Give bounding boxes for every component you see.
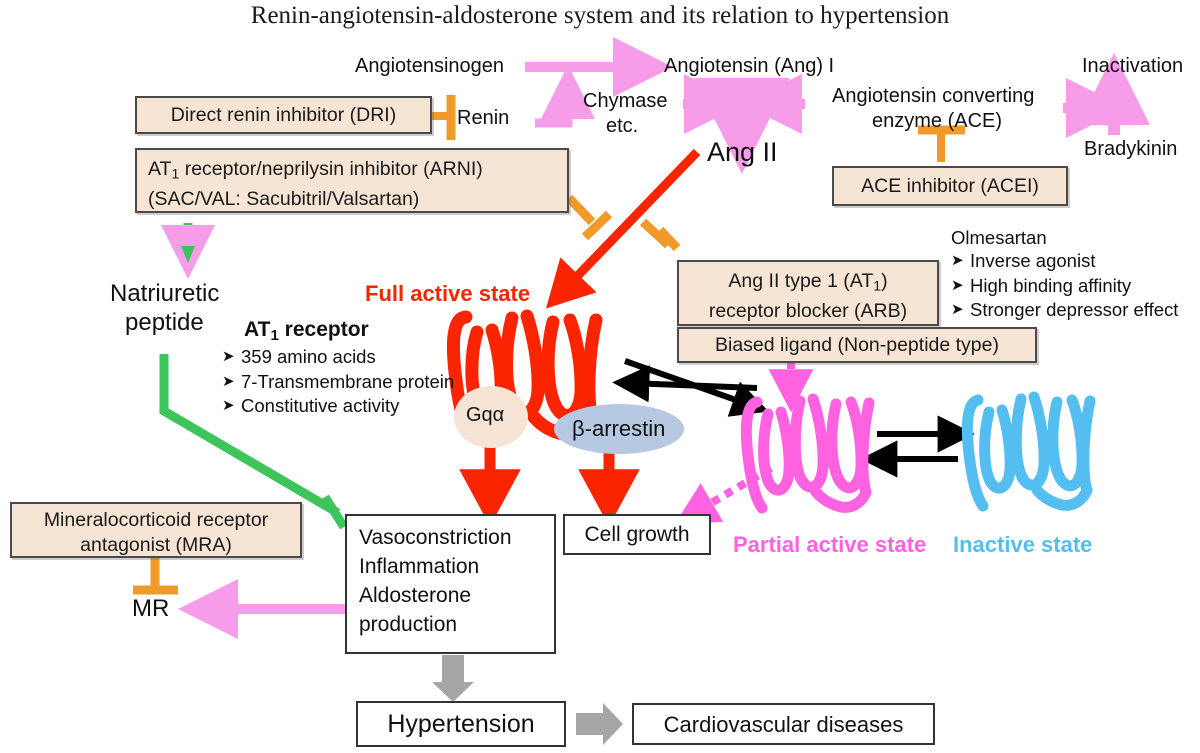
box-mra-line1: Mineralocorticoid receptor <box>12 508 300 533</box>
equilibrium-full-partial <box>625 361 757 406</box>
arrow-hypertension-to-cardiovascular <box>576 703 623 745</box>
equilibrium-partial-inactive <box>877 434 958 459</box>
label-angiotensin-i: Angiotensin (Ang) I <box>664 54 834 79</box>
box-arb-line1: Ang II type 1 (AT1) <box>679 269 937 299</box>
effect-item: production <box>359 610 544 639</box>
caption-partial-active-state: Partial active state <box>733 532 926 557</box>
list-item: 359 amino acids <box>222 345 454 370</box>
box-arb-line2: receptor blocker (ARB) <box>679 299 937 324</box>
list-item: Inverse agonist <box>951 249 1178 274</box>
label-gq-alpha: Gqα <box>466 404 504 427</box>
caption-full-active-state: Full active state <box>365 281 530 306</box>
arrow-renin-elbow <box>535 92 568 123</box>
label-beta-arrestin: β-arrestin <box>572 416 665 442</box>
list-item: Stronger depressor effect <box>951 298 1178 323</box>
effect-item: Inflammation <box>359 552 544 581</box>
box-effects[interactable]: Vasoconstriction Inflammation Aldosteron… <box>345 514 556 654</box>
inhibit-arb-at1-receptor <box>643 222 677 248</box>
label-olmesartan: Olmesartan <box>951 226 1047 249</box>
inhibit-arni-at1-receptor <box>569 198 609 237</box>
page-title: Renin-angiotensin-aldosterone system and… <box>0 2 1200 30</box>
box-arni-line2: (SAC/VAL: Sacubitril/Valsartan) <box>148 187 567 212</box>
label-ace-line2: enzyme (ACE) <box>872 109 1002 134</box>
box-ace-inhibitor[interactable]: ACE inhibitor (ACEI) <box>832 166 1068 206</box>
label-mr: MR <box>132 596 169 621</box>
list-item: Constitutive activity <box>222 394 454 419</box>
box-mra[interactable]: Mineralocorticoid receptor antagonist (M… <box>10 502 302 558</box>
label-angiotensinogen: Angiotensinogen <box>355 54 504 79</box>
inhibit-mra-mr <box>133 556 178 590</box>
box-arni-line1: AT1 receptor/neprilysin inhibitor (ARNI) <box>148 157 567 187</box>
label-chymase-etc: etc. <box>606 114 638 139</box>
box-arb[interactable]: Ang II type 1 (AT1) receptor blocker (AR… <box>677 260 939 326</box>
box-biased-ligand[interactable]: Biased ligand (Non-peptide type) <box>677 327 1037 363</box>
inhibit-dri-renin <box>432 95 451 140</box>
label-renin: Renin <box>457 106 509 131</box>
box-direct-renin-inhibitor[interactable]: Direct renin inhibitor (DRI) <box>135 96 432 134</box>
receptor-inactive-glyph <box>967 397 1090 506</box>
label-natriuretic-peptide-line1: Natriuretic <box>110 281 219 306</box>
box-dri-label: Direct renin inhibitor (DRI) <box>171 103 396 128</box>
box-hypertension-label: Hypertension <box>387 710 534 739</box>
box-hypertension[interactable]: Hypertension <box>356 701 566 747</box>
arrow-partial-receptor-to-effects <box>694 468 771 513</box>
box-cell-growth-label: Cell growth <box>584 520 689 549</box>
label-ace-line1: Angiotensin converting <box>832 84 1034 109</box>
label-chymase: Chymase <box>583 89 667 114</box>
diagram-canvas: Renin-angiotensin-aldosterone system and… <box>0 0 1200 753</box>
box-acei-label: ACE inhibitor (ACEI) <box>861 174 1039 199</box>
box-cardiovascular-diseases[interactable]: Cardiovascular diseases <box>632 703 935 745</box>
label-inactivation: Inactivation <box>1082 54 1183 79</box>
label-bradykinin: Bradykinin <box>1084 137 1177 162</box>
box-cell-growth[interactable]: Cell growth <box>563 514 711 555</box>
inhibit-acei-ace <box>918 130 965 162</box>
olmesartan-bullet-list: Inverse agonist High binding affinity St… <box>951 249 1178 323</box>
label-ang-ii: Ang II <box>707 140 778 165</box>
at1-receptor-bullet-list: 359 amino acids 7-Transmembrane protein … <box>222 345 454 419</box>
effect-item: Aldosterone <box>359 581 544 610</box>
list-item: 7-Transmembrane protein <box>222 370 454 395</box>
receptor-partial-active-glyph <box>746 399 869 508</box>
box-mra-line2: antagonist (MRA) <box>12 533 300 558</box>
box-cardiovascular-label: Cardiovascular diseases <box>664 710 904 739</box>
box-arni[interactable]: AT1 receptor/neprilysin inhibitor (ARNI)… <box>135 148 569 213</box>
arrow-effects-to-hypertension <box>432 655 474 702</box>
heading-at1-receptor: AT1 receptor <box>244 317 369 348</box>
caption-inactive-state: Inactive state <box>953 532 1092 557</box>
effect-item: Vasoconstriction <box>359 523 544 552</box>
label-natriuretic-peptide-line2: peptide <box>125 310 204 335</box>
box-biased-ligand-label: Biased ligand (Non-peptide type) <box>715 333 999 358</box>
list-item: High binding affinity <box>951 274 1178 299</box>
